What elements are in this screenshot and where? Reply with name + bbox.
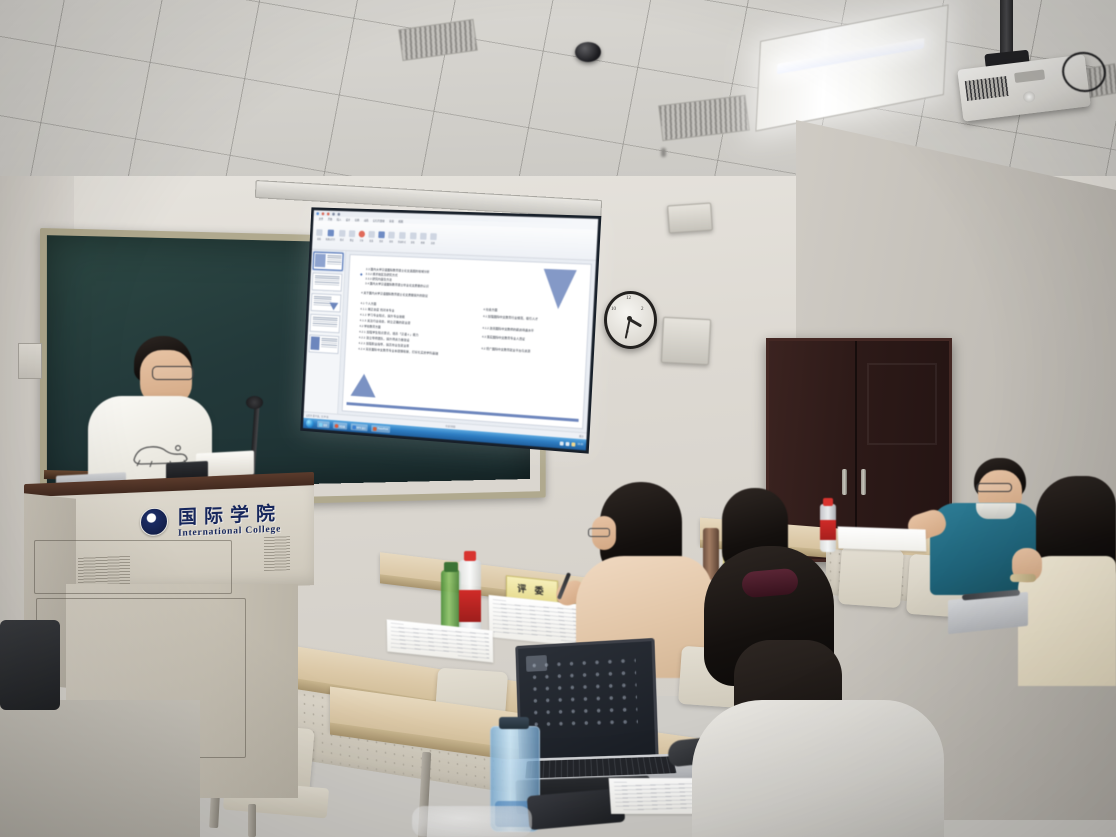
tray-clock: 16:20 [577,443,583,446]
new-slide-icon [328,230,334,237]
sprinkler-head [661,148,666,157]
ribbon-replace[interactable]: 替换 [419,233,426,245]
slide-line-right: 4.3 落实国际中文教育专业人员证 [482,335,525,342]
bracelet [1010,574,1036,582]
chair-leg [248,804,256,837]
powerpoint-icon [373,426,377,430]
ribbon-quick-styles[interactable]: 快速样式 [398,232,407,244]
slide-line: 4.2 学校教育方面 [359,324,380,330]
find-icon [410,232,417,239]
slide-line: 4.2.4 完善国际中文教育专业本硕博衔接，打好扎实的学科基础 [358,347,438,356]
chevron-shape [542,269,577,310]
layout-icon [339,230,346,237]
browser-icon [334,423,338,427]
slide-line: 3.4 国内大学汉语国际教育硕士毕业论文质量的认识 [365,281,429,288]
font-icon [358,231,365,238]
plastic-wrapper[interactable] [412,806,532,837]
grey-top [692,700,944,837]
wps-icon [352,425,356,429]
ribbon-shapes[interactable]: 形状 [378,231,385,243]
slide-line-right: 4 社会方面 [483,307,497,312]
projector-mount-pole [1000,0,1013,58]
taskbar-item-browser[interactable]: 浏览器 [332,422,346,430]
language-indicator[interactable]: 中文(中国) [445,424,455,429]
door-panel [867,363,937,445]
eyeglasses [152,366,194,380]
ribbon-reset[interactable]: 重设 [348,230,355,242]
ribbon-arrange[interactable]: 排列 [388,232,395,244]
podium-drawer[interactable] [34,540,232,594]
ribbon-new-slide[interactable]: 新建幻灯片 [326,230,336,242]
name-card-text: 评 委 [517,581,546,597]
clock-tick: 2 [641,307,644,312]
slide-line-right: 4.2 增广国际中文教育就业平台与资源 [481,346,530,353]
slide-thumbnail[interactable] [309,334,340,354]
ime-icon[interactable] [571,442,575,446]
microphone-head [246,396,263,409]
taskbar-item-wps[interactable]: WPS 演示 [350,423,368,431]
paragraph-icon [368,231,375,238]
podium-vent-right [264,536,290,571]
system-tray[interactable]: 16:20 [560,441,584,447]
ribbon-select[interactable]: 选择 [430,233,437,245]
water-bottle-red-label[interactable] [820,504,836,552]
network-icon[interactable] [560,441,564,445]
dome-security-camera [575,42,601,62]
ribbon-paste[interactable]: 粘贴 [316,229,323,241]
chair-back[interactable] [838,546,904,608]
slide-editing-area[interactable]: 3.3 国内大学汉语国际教育硕士论文选题的地域分析 3.3.2 横术地区及研究方… [338,251,596,432]
wall-speaker-right [661,317,711,365]
slide-line: 4 关于国内大学汉语国际教育硕士论文质量提升的建议 [361,291,428,299]
arrange-icon [388,232,395,239]
eyeglasses [976,483,1012,492]
shapes-icon [378,231,385,238]
door-handle-right[interactable] [861,469,866,495]
triangle-shape [350,373,376,398]
equipment-case [0,620,60,710]
volume-icon[interactable] [566,441,570,445]
wall-control-box[interactable] [18,343,42,379]
clock-center-pin [627,316,632,321]
shirt-collar [976,503,1016,519]
slide-thumbnail[interactable] [310,314,341,334]
projection-screen: 文件 开始 插入 设计 切换 动画 幻灯片放映 审阅 视图 粘贴 新建幻灯片 版… [300,207,601,453]
clock-tick: 10 [611,307,616,312]
current-slide[interactable]: 3.3 国内大学汉语国际教育硕士论文选题的地域分析 3.3.2 横术地区及研究方… [342,254,592,429]
eyeglasses [588,528,610,537]
slide-line-right: 4.1.2 改善国际中文教师的薪资待遇水平 [482,326,534,333]
powerpoint-body: 3.3 国内大学汉语国际教育硕士论文选题的地域分析 3.3.2 横术地区及研究方… [304,250,596,433]
university-emblem-icon [140,507,168,536]
powerpoint-window[interactable]: 文件 开始 插入 设计 切换 动画 幻灯片放映 审阅 视图 粘贴 新建幻灯片 版… [303,210,598,450]
slide-line: 4.1 个人方面 [360,301,376,306]
quick-styles-icon [399,232,406,239]
floor [0,700,200,837]
clock-minute-hand [624,319,630,339]
diamond-bullet-icon [360,273,363,276]
paste-icon [316,229,322,236]
clock-tick: 12 [626,296,631,301]
search-icon [319,422,323,426]
taskbar-item-powerpoint[interactable]: PowerPoint [371,425,390,433]
slide-thumbnail[interactable] [313,252,344,271]
slide-line-right: 4.1 加强国际中文教育行业规范，吸引人才 [483,314,538,321]
ribbon-paragraph[interactable]: 段落 [368,231,375,243]
replace-icon [420,233,427,240]
view-notes-label[interactable]: 备注 [579,434,584,438]
reset-icon [349,230,356,237]
paper-stack[interactable] [838,526,927,551]
slide-thumbnail[interactable] [312,272,343,291]
ribbon-find[interactable]: 查找 [409,232,416,244]
door-handle-left[interactable] [842,469,847,495]
slide-thumbnail[interactable] [311,293,342,312]
windows-start-icon[interactable] [306,419,314,428]
select-icon [430,233,437,240]
wall-speaker-left [667,202,713,233]
wall-clock: 12 2 6 10 [604,291,657,349]
ribbon-layout[interactable]: 版式 [339,230,346,242]
taskbar-item-search[interactable]: 搜索 [317,421,329,429]
ribbon-font[interactable]: 字体 [358,231,365,243]
classroom-photo: 文件 开始 插入 设计 切换 动画 幻灯片放映 审阅 视图 粘贴 新建幻灯片 版… [0,0,1116,837]
